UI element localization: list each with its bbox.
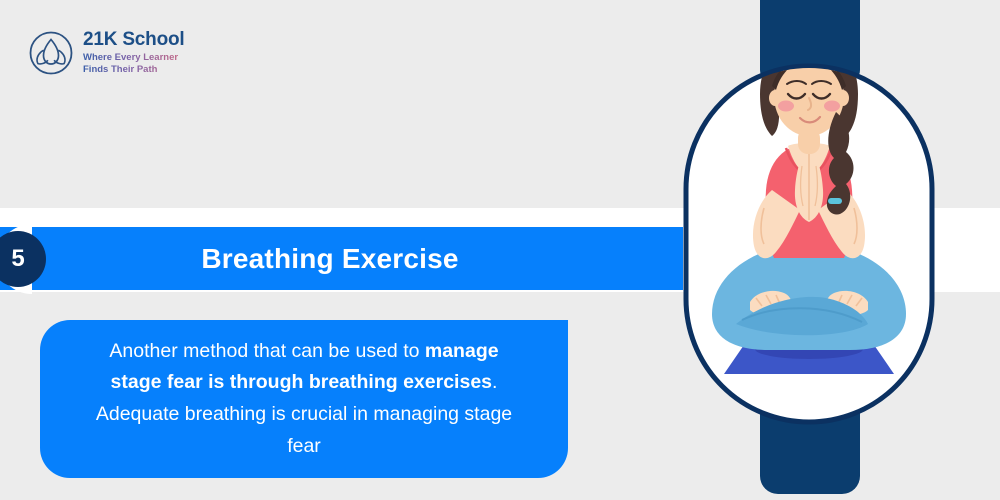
brand-name: 21K School <box>83 30 184 49</box>
lotus-circle-icon <box>28 30 74 76</box>
description-card: Another method that can be used to manag… <box>40 320 568 478</box>
cheek-right <box>824 101 840 112</box>
illustration-meditating-woman <box>676 0 942 500</box>
step-number-value: 5 <box>11 245 24 273</box>
brand-tagline: Where Every Learner Finds Their Path <box>83 52 184 76</box>
brand-logo[interactable]: 21K School Where Every Learner Finds The… <box>28 30 184 76</box>
slide-canvas: 21K School Where Every Learner Finds The… <box>0 0 1000 500</box>
banner-title-text: Breathing Exercise <box>0 227 660 290</box>
step-number-badge: 5 <box>0 222 73 296</box>
description-text: Another method that can be used to manag… <box>86 336 522 462</box>
braid-tie <box>828 198 842 204</box>
brand-logo-text: 21K School Where Every Learner Finds The… <box>83 30 184 76</box>
cheek-left <box>778 101 794 112</box>
